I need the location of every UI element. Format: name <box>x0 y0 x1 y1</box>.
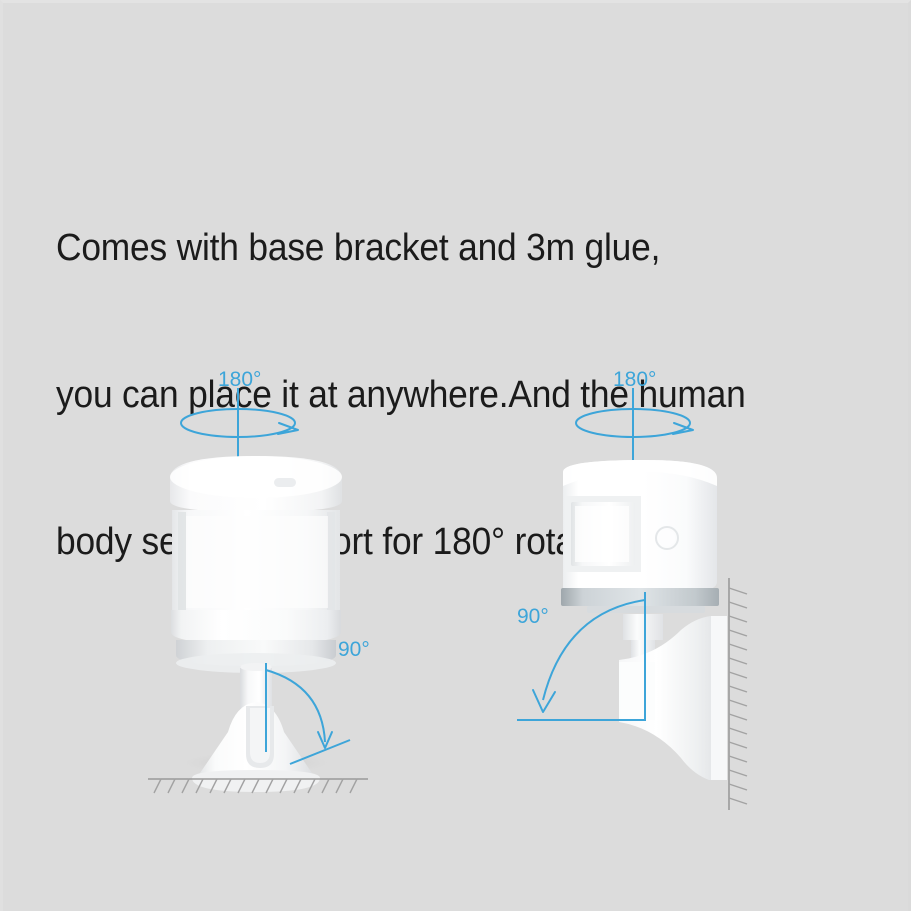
figure-floor-mounted-sensor: 180° 90° <box>140 360 400 810</box>
floor-rotation-label: 180° <box>218 368 261 392</box>
lens-fresnel-face <box>186 516 328 608</box>
wall-bracket-plate <box>711 616 727 780</box>
sensor-lower-body <box>171 610 341 644</box>
wall-bracket-collar <box>619 662 655 720</box>
sensor-metal-band <box>561 588 719 606</box>
wall-hatch-ticks <box>729 588 747 804</box>
wall-hatch-symbol <box>729 578 747 810</box>
led-indicator-icon <box>274 478 296 487</box>
wall-rotation-label: 180° <box>613 368 656 392</box>
lens-fresnel-face <box>575 506 629 562</box>
pivot-stem-upper <box>623 614 663 640</box>
floor-tilt-label: 90° <box>338 638 370 662</box>
sensor-button-face[interactable] <box>659 530 675 546</box>
sensor-top-cap-face <box>170 456 342 498</box>
figure-wall-mounted-sensor: 180° 90° <box>495 360 795 810</box>
lens-right-edge <box>327 512 335 610</box>
floor-sensor-drawing <box>140 360 440 820</box>
lens-left-edge <box>178 512 186 610</box>
illustration-page: Comes with base bracket and 3m glue, you… <box>0 0 911 911</box>
base-bracket-foot <box>192 770 320 792</box>
wall-tilt-label: 90° <box>517 605 549 629</box>
headline-line-1: Comes with base bracket and 3m glue, <box>56 224 828 273</box>
wall-sensor-drawing <box>495 360 815 820</box>
